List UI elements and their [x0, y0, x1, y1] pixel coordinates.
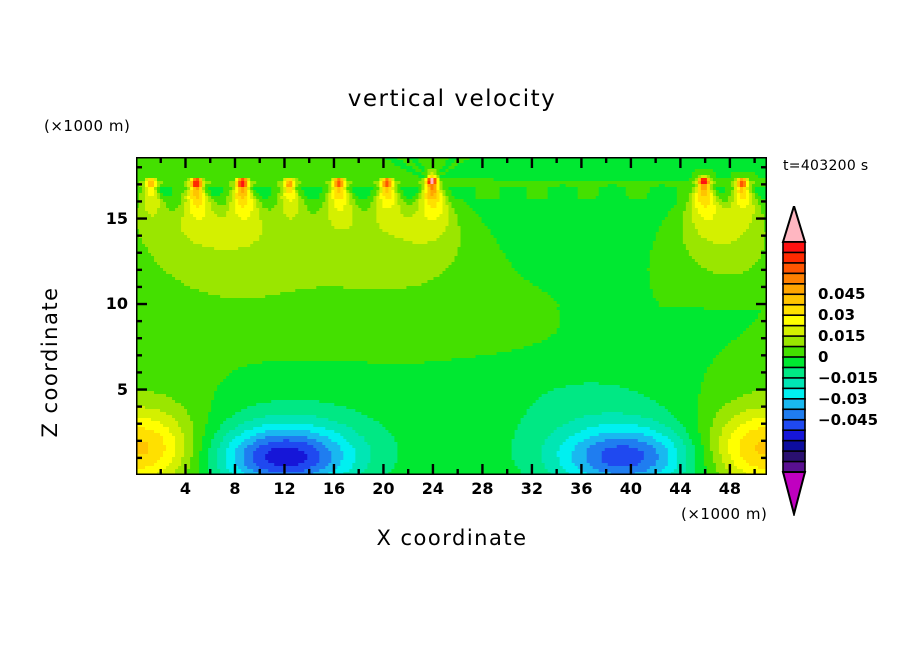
x-tick-label: 28 — [462, 479, 502, 498]
x-tick-label: 36 — [561, 479, 601, 498]
x-tick-label: 24 — [413, 479, 453, 498]
x-axis-unit-label: (×1000 m) — [681, 505, 767, 523]
x-tick-label: 8 — [215, 479, 255, 498]
colorbar-tick-label: −0.015 — [818, 369, 878, 387]
x-tick-label: 4 — [165, 479, 205, 498]
colorbar-tick-label: 0.03 — [818, 306, 855, 324]
x-axis-title: X coordinate — [0, 526, 904, 550]
colorbar — [776, 206, 812, 516]
colorbar-tick-label: −0.03 — [818, 390, 868, 408]
page-title: vertical velocity — [0, 86, 904, 112]
x-tick-label: 12 — [264, 479, 304, 498]
x-tick-label: 40 — [611, 479, 651, 498]
contour-field — [136, 157, 767, 475]
figure-canvas: vertical velocity (×1000 m) (×1000 m) X … — [0, 0, 904, 654]
contour-plot-area — [136, 157, 767, 475]
x-tick-label: 16 — [314, 479, 354, 498]
colorbar-gradient — [776, 206, 812, 516]
y-tick-label: 15 — [88, 209, 128, 228]
x-tick-label: 44 — [660, 479, 700, 498]
y-tick-label: 5 — [88, 380, 128, 399]
x-tick-label: 48 — [710, 479, 750, 498]
x-tick-label: 32 — [512, 479, 552, 498]
y-axis-unit-label: (×1000 m) — [44, 117, 130, 135]
colorbar-tick-label: −0.045 — [818, 411, 878, 429]
colorbar-tick-label: 0.015 — [818, 327, 865, 345]
colorbar-tick-label: 0.045 — [818, 285, 865, 303]
x-tick-label: 20 — [363, 479, 403, 498]
time-annotation: t=403200 s — [783, 158, 868, 174]
y-axis-title: Z coordinate — [38, 252, 62, 472]
y-tick-label: 10 — [88, 294, 128, 313]
colorbar-tick-label: 0 — [818, 348, 828, 366]
